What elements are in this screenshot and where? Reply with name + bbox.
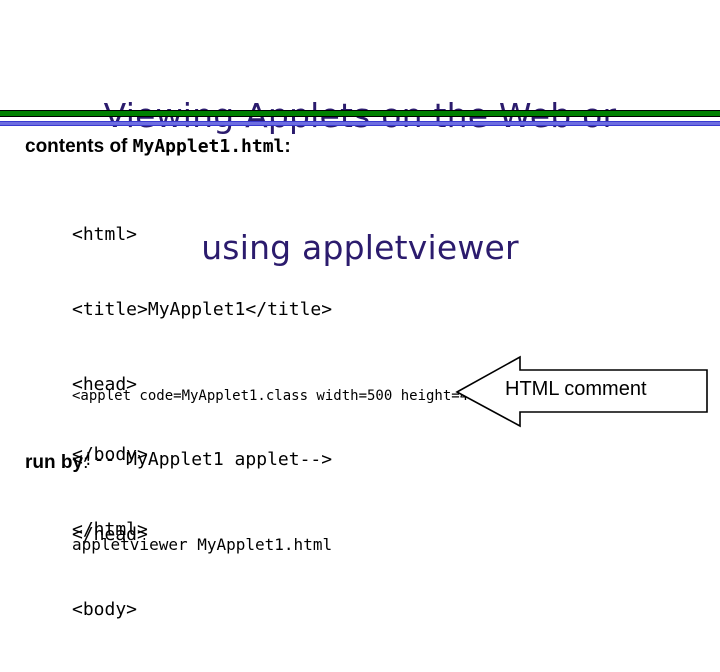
run-by-heading-colon: : [83, 452, 88, 473]
code-line: <body> [72, 597, 332, 622]
run-by-heading: run by: [25, 451, 88, 475]
divider-green-bar [0, 110, 720, 117]
contents-heading-colon: : [284, 136, 290, 157]
slide-body: contents of MyApplet1.html: <html> <titl… [0, 130, 720, 540]
code-block-run-command: appletviewer MyApplet1.html [72, 490, 332, 600]
contents-heading-filename: MyApplet1.html [133, 136, 285, 157]
code-line: <html> [72, 222, 332, 247]
run-by-heading-prefix: run by [25, 452, 83, 473]
contents-heading: contents of MyApplet1.html: [25, 135, 291, 159]
divider-blue-bar [0, 121, 720, 126]
callout-label: HTML comment [505, 376, 705, 402]
contents-heading-prefix: contents of [25, 136, 133, 157]
code-line: <title>MyApplet1</title> [72, 297, 332, 322]
code-line: appletviewer MyApplet1.html [72, 534, 332, 556]
